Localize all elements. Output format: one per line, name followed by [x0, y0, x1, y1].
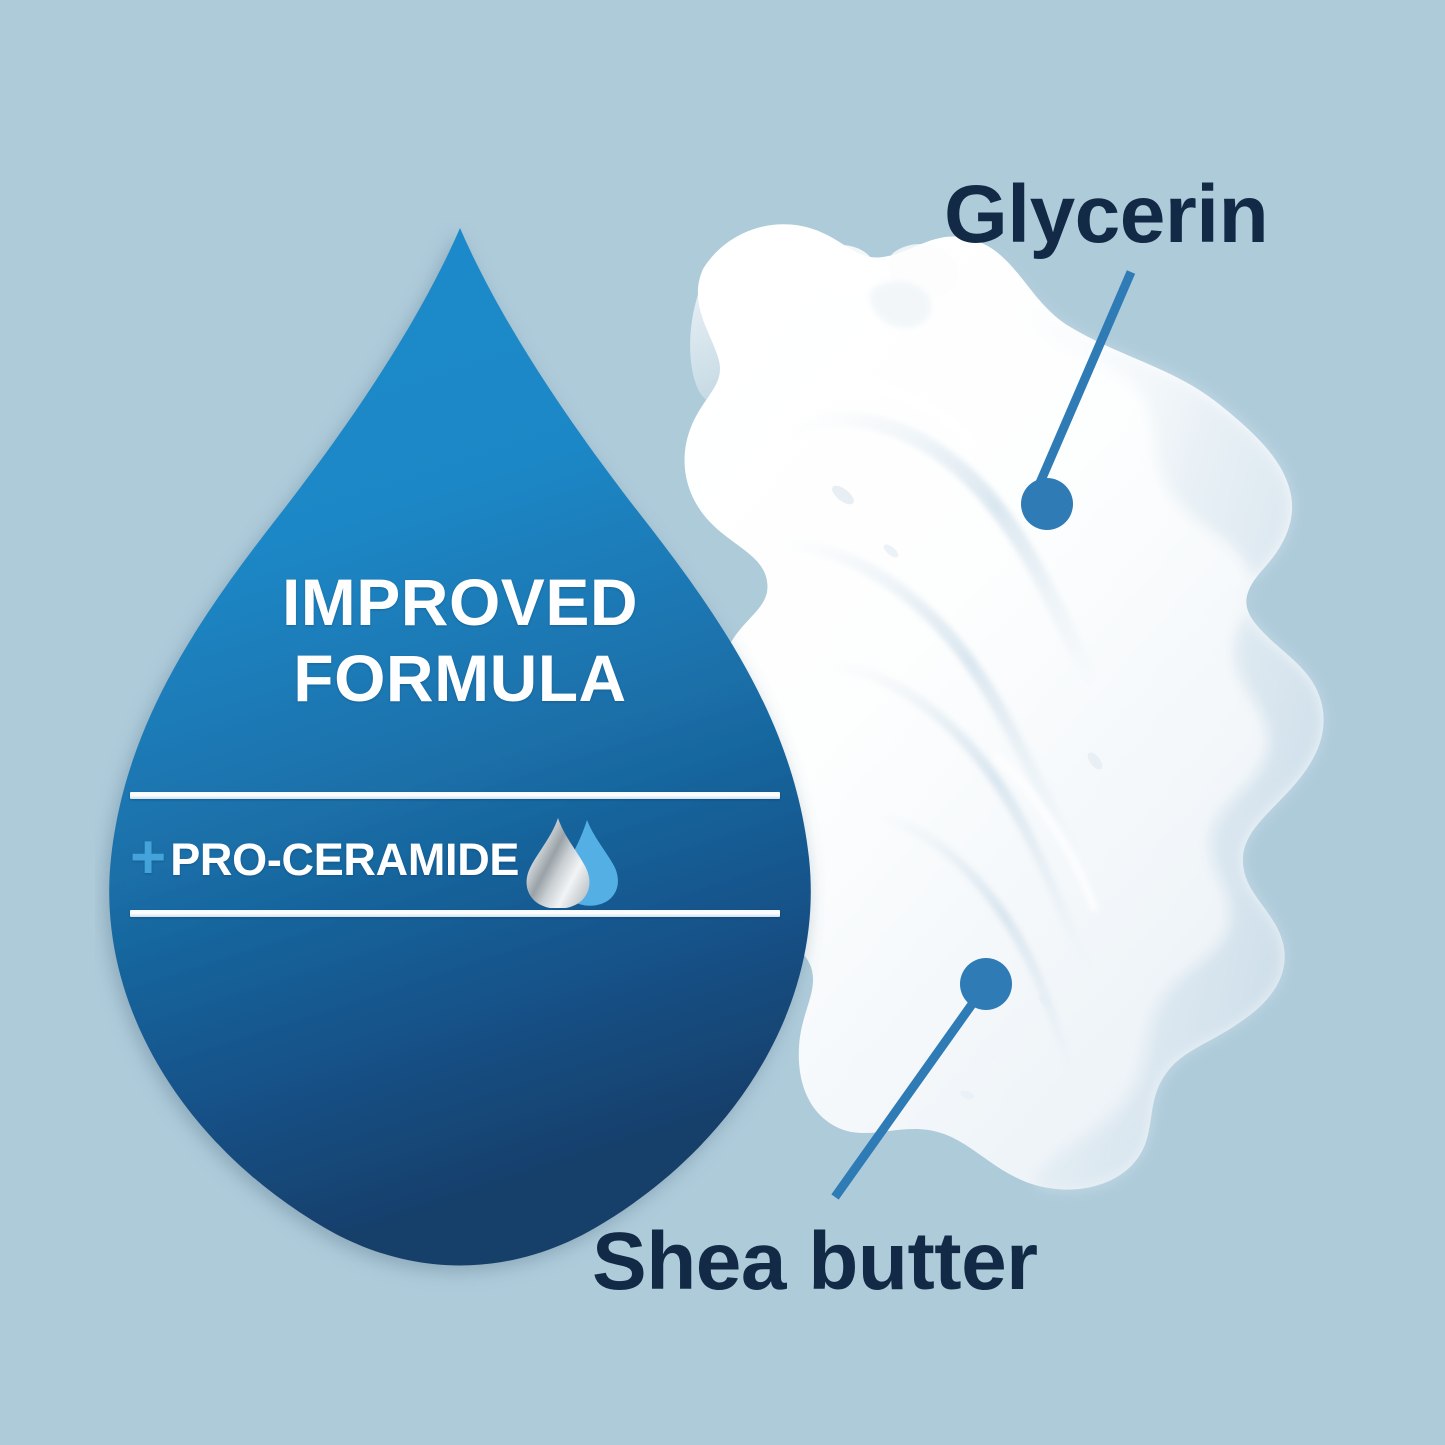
callout-dot-shea-butter[interactable]	[960, 958, 1012, 1010]
callout-label-shea-butter: Shea butter	[592, 1215, 1038, 1309]
callout-line-shea-butter	[835, 1000, 975, 1197]
callout-dot-glycerin[interactable]	[1021, 478, 1073, 530]
callout-label-glycerin: Glycerin	[944, 168, 1268, 262]
callout-shea-butter[interactable]	[835, 958, 1012, 1197]
callout-line-glycerin	[1036, 272, 1131, 492]
callout-glycerin[interactable]	[1021, 272, 1131, 530]
marketing-graphic: IMPROVED FORMULA + PRO-CERAMIDE	[0, 0, 1445, 1445]
